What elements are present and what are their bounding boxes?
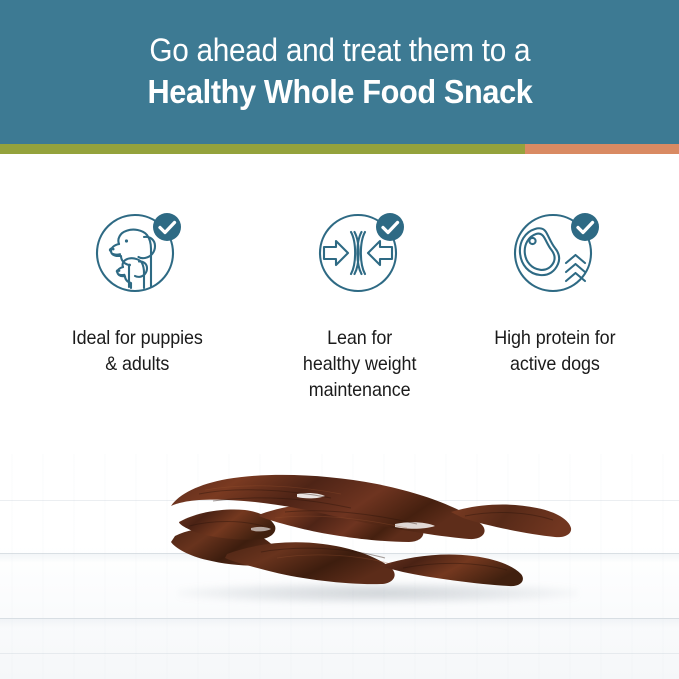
feature-item-puppies-adults: Ideal for puppies & adults: [37, 154, 237, 377]
caption-line: & adults: [71, 351, 202, 377]
feature-caption-healthy-weight: Lean for healthy weight maintenance: [303, 325, 416, 403]
headline-line-2: Healthy Whole Food Snack: [147, 72, 532, 112]
plank-seam-line: [0, 653, 679, 654]
accent-bar-salmon-segment: [525, 144, 679, 154]
feature-row: Ideal for puppies & adults: [0, 154, 679, 454]
header-text-block: Go ahead and treat them to a Healthy Who…: [0, 0, 679, 144]
caption-line: High protein for: [494, 325, 615, 351]
product-benefits-banner: Go ahead and treat them to a Healthy Who…: [0, 0, 679, 679]
accent-bar: [0, 144, 679, 154]
caption-line: maintenance: [303, 377, 416, 403]
plank-shade: [0, 618, 679, 628]
jerky-strips-pile: [165, 468, 575, 603]
two-dogs-icon: [87, 201, 187, 301]
jerky-strip: [379, 554, 523, 586]
steak-protein-icon: [505, 201, 605, 301]
feature-caption-high-protein: High protein for active dogs: [494, 325, 615, 377]
headline-line-1: Go ahead and treat them to a: [149, 32, 530, 70]
caption-line: healthy weight: [303, 351, 416, 377]
jerky-strips-graphic: [165, 468, 575, 603]
feature-caption-puppies-adults: Ideal for puppies & adults: [71, 325, 202, 377]
slimming-arrows-icon: [310, 201, 410, 301]
caption-line: Lean for: [303, 325, 416, 351]
caption-line: Ideal for puppies: [71, 325, 202, 351]
caption-line: active dogs: [494, 351, 615, 377]
feature-item-high-protein: High protein for active dogs: [455, 154, 655, 377]
plank-seam-line: [0, 618, 679, 619]
accent-bar-olive-segment: [0, 144, 525, 154]
feature-item-healthy-weight: Lean for healthy weight maintenance: [260, 154, 460, 403]
header-banner: Go ahead and treat them to a Healthy Who…: [0, 0, 679, 144]
